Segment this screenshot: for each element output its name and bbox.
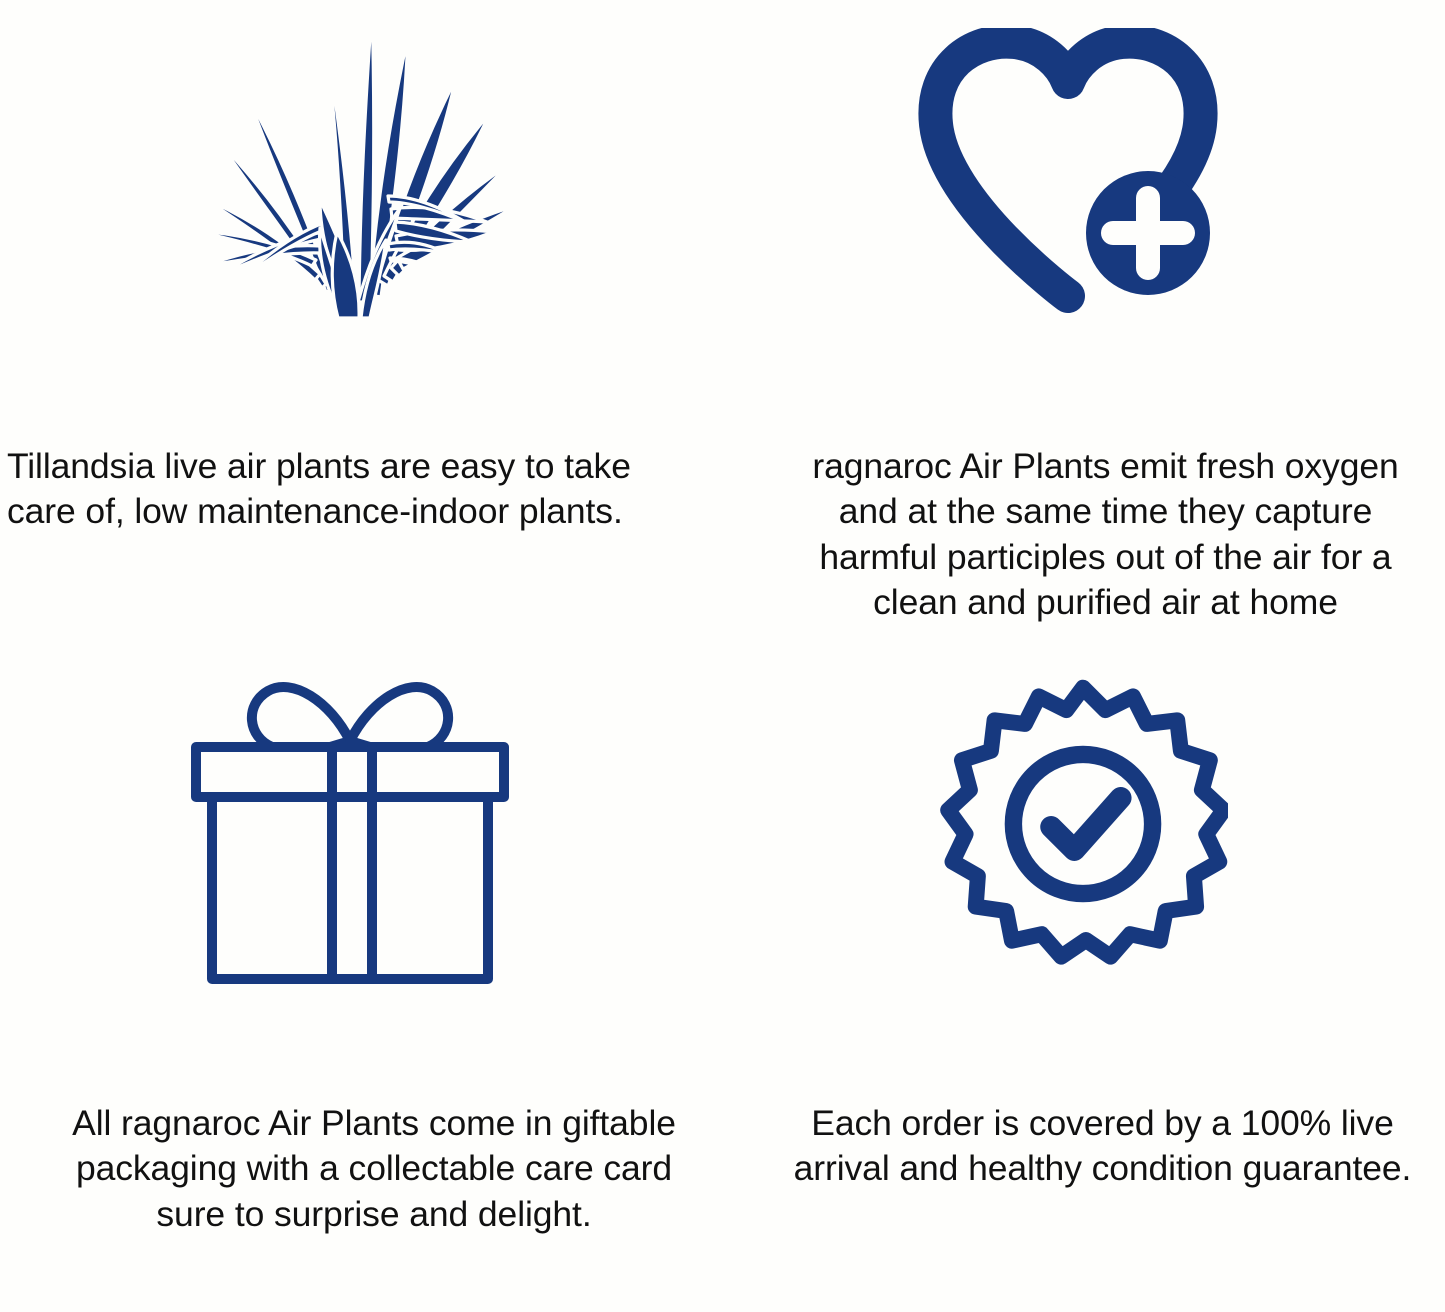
gift-box-icon (180, 669, 520, 999)
gift-body (212, 797, 488, 979)
caption-line: ragnaroc Air Plants emit fresh oxygen (768, 444, 1443, 489)
air-plant-icon (160, 0, 535, 330)
feature-caption-giftable-packaging: All ragnaroc Air Plants come in giftable… (0, 1101, 748, 1237)
feature-card-live-arrival-guarantee: Each order is covered by a 100% live arr… (748, 657, 1445, 1312)
caption-line: harmful participles out of the air for a (768, 535, 1443, 580)
caption-line: arrival and healthy condition guarantee. (762, 1146, 1443, 1191)
caption-line: Each order is covered by a 100% live (762, 1101, 1443, 1146)
caption-line: Tillandsia live air plants are easy to t… (7, 444, 738, 489)
air-plant-icon-area (0, 0, 748, 430)
gift-lid (196, 747, 504, 797)
heart-plus-icon (918, 28, 1218, 318)
feature-caption-air-purifying: ragnaroc Air Plants emit fresh oxygen an… (748, 444, 1445, 626)
gift-box-icon-area (0, 657, 748, 1087)
bow-loop-right (350, 687, 448, 747)
feature-card-giftable-packaging: All ragnaroc Air Plants come in giftable… (0, 657, 748, 1312)
verified-badge-icon-area (748, 657, 1445, 1087)
caption-line: sure to surprise and delight. (18, 1192, 730, 1237)
heart-plus-icon-area (748, 0, 1445, 430)
feature-caption-easy-care: Tillandsia live air plants are easy to t… (0, 444, 748, 535)
caption-line: packaging with a collectable care card (18, 1146, 730, 1191)
feature-card-easy-care: Tillandsia live air plants are easy to t… (0, 0, 748, 657)
caption-line: All ragnaroc Air Plants come in giftable (18, 1101, 730, 1146)
caption-line: and at the same time they capture (768, 489, 1443, 534)
verified-badge-icon (938, 679, 1228, 969)
caption-line: clean and purified air at home (768, 580, 1443, 625)
caption-line: care of, low maintenance-indoor plants. (7, 489, 738, 534)
check-icon (1051, 798, 1121, 850)
bow-loop-left (252, 687, 350, 747)
feature-grid: Tillandsia live air plants are easy to t… (0, 0, 1445, 1312)
feature-card-air-purifying: ragnaroc Air Plants emit fresh oxygen an… (748, 0, 1445, 657)
feature-caption-live-arrival-guarantee: Each order is covered by a 100% live arr… (748, 1101, 1445, 1192)
